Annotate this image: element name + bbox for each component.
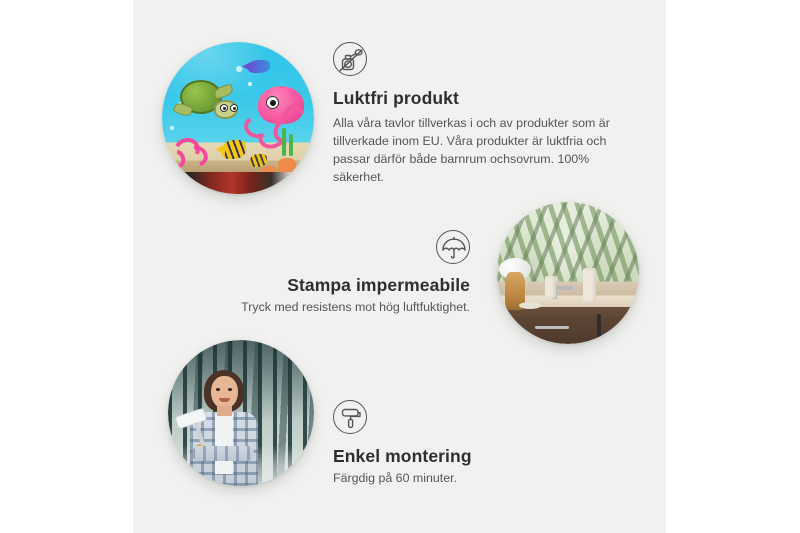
photo-forest-image [168,340,314,486]
seaweed [282,128,286,156]
room-strip [162,172,314,194]
person-eye-right [228,388,232,391]
candle-short [545,276,556,298]
faucet [553,286,573,290]
fish-yellow-small [250,154,267,167]
bubble [236,66,242,72]
person-shirt [215,414,233,474]
bubble [248,82,252,86]
fish-blue-tail [242,62,251,71]
turtle-eye-left [220,104,228,112]
feature-body: Alla våra tavlor tillverkas i och av pro… [333,114,633,186]
cabinet-door-handle [597,314,601,338]
octopus-eye [266,96,279,109]
feature-title: Luktfri produkt [333,88,633,109]
candle-tall [583,268,596,302]
feature-title: Enkel montering [333,446,623,467]
person-eye-left [216,388,220,391]
person-face [211,376,238,409]
person-neck [217,406,232,416]
feature-block-mounting: Enkel montering Färgdig på 60 minuter. [333,400,623,485]
feature-title: Stampa impermeabile [190,275,470,296]
no-fragrance-icon [333,42,367,76]
turtle-eye-right [230,104,238,112]
photo-forest-circle [168,340,314,486]
umbrella-icon [436,230,470,264]
soap-dish [519,302,541,309]
photo-bathroom-image [497,202,639,344]
paint-roller-icon [333,400,367,434]
feature-block-waterproof: Stampa impermeabile Tryck med resistens … [190,230,470,314]
photo-bathroom-circle [497,202,639,344]
person-forearm [192,446,254,461]
fish-blue [248,60,270,73]
feature-body: Färgdig på 60 minuter. [333,471,623,485]
photo-sea-image [162,42,314,194]
feature-block-odourless: Luktfri produkt Alla våra tavlor tillver… [333,42,633,186]
infographic-root: Luktfri produkt Alla våra tavlor tillver… [0,0,800,533]
fish-yellow-large [222,140,246,159]
photo-sea-circle [162,42,314,194]
content-panel: Luktfri produkt Alla våra tavlor tillver… [133,0,666,533]
feature-body: Tryck med resistens mot hög luftfuktighe… [190,300,470,314]
seaweed [289,134,293,156]
bubble [170,126,174,130]
fish-yellow-tail [216,144,225,155]
drawer-pull-top [535,326,569,329]
